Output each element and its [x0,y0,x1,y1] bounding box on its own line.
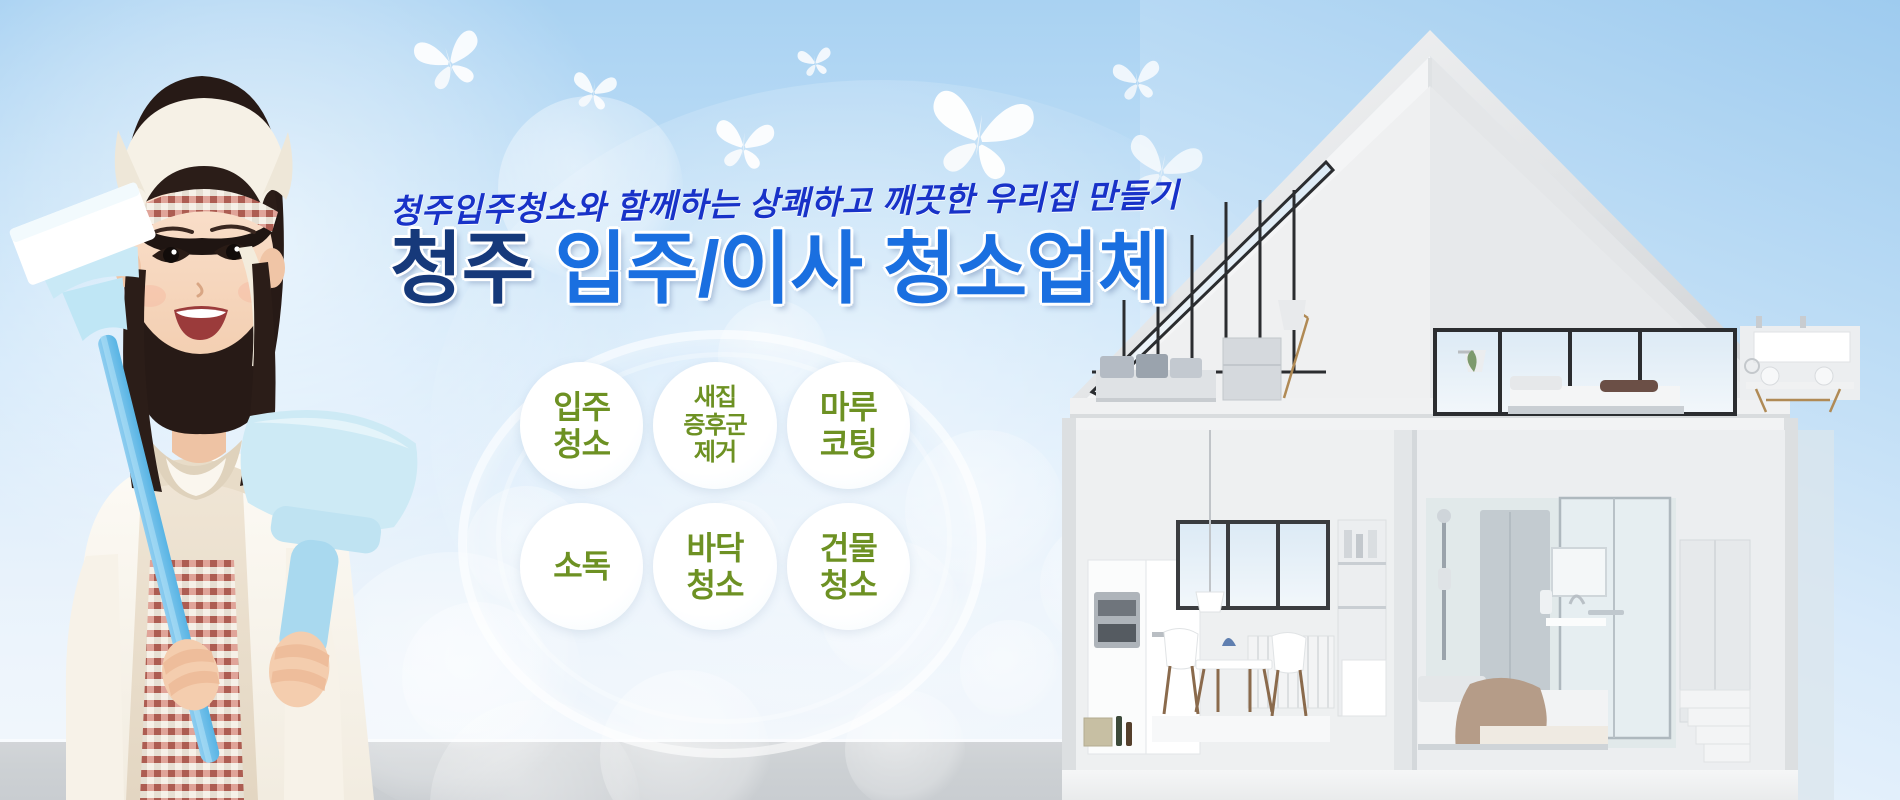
page-title-part2: 입주/이사 청소업체 [533,224,1169,313]
service-badge-floor-cleaning[interactable]: 바닥청소 [653,503,776,630]
cutaway-house-illustration [1040,0,1900,800]
service-badge-disinfection[interactable]: 소독 [520,503,643,630]
promo-banner: 청주입주청소와 함께하는 상쾌하고 깨끗한 우리집 만들기 청주 입주/이사 청… [0,0,1900,800]
butterfly-icon [795,44,835,78]
service-badge-label: 청소 [820,567,877,603]
service-badge-label: 건물 [820,530,877,566]
butterfly-icon [568,67,620,112]
page-title-part1: 청주 [390,224,533,313]
service-badge-label: 청소 [553,426,610,462]
service-badge-row-top: 입주청소새집증후군제거마루코팅 [520,362,920,489]
service-badge-sick-house-syndrome-removal[interactable]: 새집증후군제거 [653,362,776,489]
headline-block: 청주입주청소와 함께하는 상쾌하고 깨끗한 우리집 만들기 청주 입주/이사 청… [390,186,1150,310]
service-badge-row-bottom: 소독바닥청소건물청소 [520,503,920,630]
service-badge-group: 입주청소새집증후군제거마루코팅 소독바닥청소건물청소 [520,362,920,630]
service-badge-building-cleaning[interactable]: 건물청소 [787,503,910,630]
child-model-photo [0,0,470,800]
service-badge-label: 바닥 [687,530,744,566]
service-badge-label: 새집 [694,384,736,412]
banner-subtitle: 청주입주청소와 함께하는 상쾌하고 깨끗한 우리집 만들기 [390,178,1151,230]
service-badge-move-in-cleaning[interactable]: 입주청소 [520,362,643,489]
service-badge-label: 입주 [553,389,610,425]
butterfly-icon [918,79,1042,187]
page-title: 청주 입주/이사 청소업체 [390,228,1150,310]
service-badge-label: 코팅 [820,426,877,462]
butterfly-icon [710,114,778,172]
service-badge-label: 청소 [687,567,744,603]
service-badge-floor-coating[interactable]: 마루코팅 [787,362,910,489]
service-badge-label: 제거 [694,439,736,467]
service-badge-label: 증후군 [683,412,746,440]
service-badge-label: 마루 [820,389,877,425]
service-badge-label: 소독 [553,548,610,584]
